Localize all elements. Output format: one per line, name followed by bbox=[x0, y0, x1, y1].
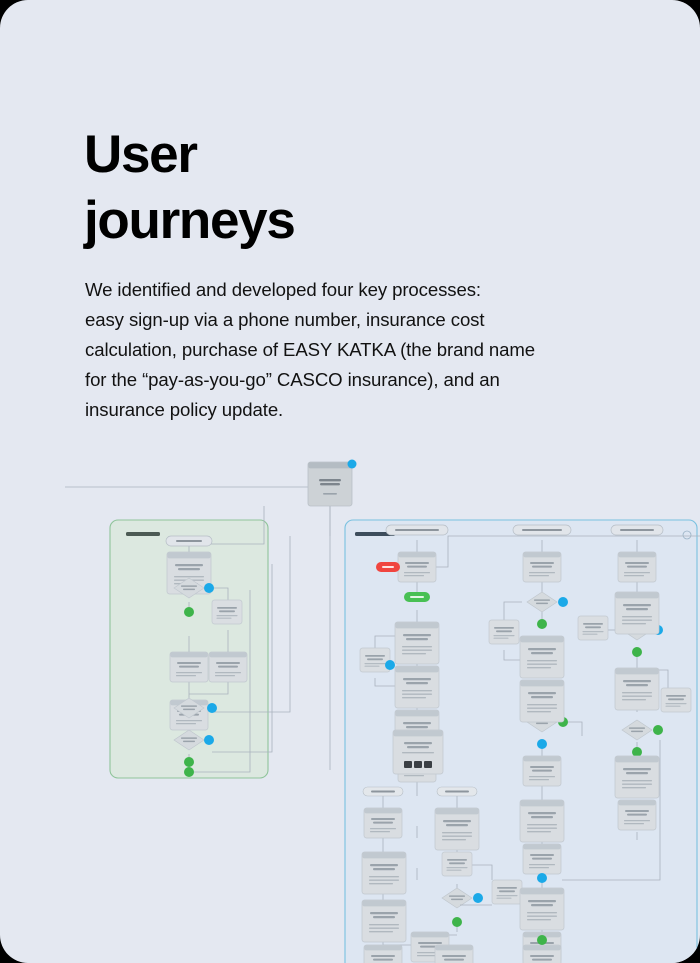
intro-paragraph: We identified and developed four key pro… bbox=[85, 275, 625, 425]
flow-node[interactable] bbox=[435, 945, 473, 963]
badge-yes[interactable] bbox=[184, 757, 194, 767]
badge-yes[interactable] bbox=[184, 607, 194, 617]
badge-yes[interactable] bbox=[653, 725, 663, 735]
column-pill-kasko-1 bbox=[386, 525, 448, 535]
flow-node[interactable] bbox=[618, 552, 656, 582]
flow-node[interactable] bbox=[395, 622, 439, 664]
flow-node[interactable] bbox=[578, 616, 608, 640]
badge-yes[interactable] bbox=[537, 619, 547, 629]
flow-node[interactable] bbox=[395, 666, 439, 708]
flow-node[interactable] bbox=[520, 636, 564, 678]
column-pill-calculator bbox=[166, 536, 212, 546]
flow-node[interactable] bbox=[170, 652, 208, 682]
doc-icon bbox=[414, 761, 422, 768]
doc-icon bbox=[424, 761, 432, 768]
verification-node[interactable] bbox=[393, 730, 443, 774]
flow-node[interactable] bbox=[618, 800, 656, 830]
branch-label-edit bbox=[437, 787, 477, 796]
column-pill-kasko-3 bbox=[611, 525, 663, 535]
badge-no[interactable] bbox=[537, 739, 547, 749]
badge-no[interactable] bbox=[204, 735, 214, 745]
badge-yes[interactable] bbox=[632, 747, 642, 757]
flow-node[interactable] bbox=[364, 808, 402, 838]
flow-node[interactable] bbox=[523, 552, 561, 582]
badge-yes[interactable] bbox=[632, 647, 642, 657]
badge-no[interactable] bbox=[537, 873, 547, 883]
root-node[interactable] bbox=[308, 460, 357, 507]
flow-node[interactable] bbox=[212, 600, 242, 624]
flow-node[interactable] bbox=[362, 852, 406, 894]
branch-label-confirm bbox=[363, 787, 403, 796]
badge-no[interactable] bbox=[385, 660, 395, 670]
flow-node[interactable] bbox=[615, 592, 659, 634]
flow-node[interactable] bbox=[492, 880, 522, 904]
pill-badge-error[interactable] bbox=[376, 562, 400, 572]
flow-node[interactable] bbox=[523, 945, 561, 963]
column-pill-kasko-2 bbox=[513, 525, 571, 535]
flow-node[interactable] bbox=[489, 620, 519, 644]
flow-node[interactable] bbox=[523, 756, 561, 786]
flow-node[interactable] bbox=[520, 680, 564, 722]
flow-node[interactable] bbox=[615, 756, 659, 798]
badge-no[interactable] bbox=[558, 597, 568, 607]
page-title: User journeys bbox=[84, 122, 604, 254]
badge-no[interactable] bbox=[207, 703, 217, 713]
flow-node[interactable] bbox=[362, 900, 406, 942]
user-journey-diagram[interactable] bbox=[0, 440, 700, 963]
panel-calculator-label bbox=[126, 532, 160, 536]
flow-node[interactable] bbox=[442, 852, 472, 876]
badge-yes[interactable] bbox=[452, 917, 462, 927]
slide-card: User journeys We identified and develope… bbox=[0, 0, 700, 963]
badge-no[interactable] bbox=[473, 893, 483, 903]
flow-node[interactable] bbox=[398, 552, 436, 582]
flow-node[interactable] bbox=[520, 800, 564, 842]
flow-node[interactable] bbox=[615, 668, 659, 710]
flow-node[interactable] bbox=[523, 844, 561, 874]
flow-node[interactable] bbox=[364, 945, 402, 963]
flow-node[interactable] bbox=[209, 652, 247, 682]
badge-no[interactable] bbox=[204, 583, 214, 593]
pill-badge-success[interactable] bbox=[404, 592, 430, 602]
badge-yes[interactable] bbox=[184, 767, 194, 777]
flow-node[interactable] bbox=[661, 688, 691, 712]
flow-node[interactable] bbox=[360, 648, 390, 672]
flow-node[interactable] bbox=[520, 888, 564, 930]
badge-yes[interactable] bbox=[537, 935, 547, 945]
flow-node[interactable] bbox=[435, 808, 479, 850]
doc-icon bbox=[404, 761, 412, 768]
